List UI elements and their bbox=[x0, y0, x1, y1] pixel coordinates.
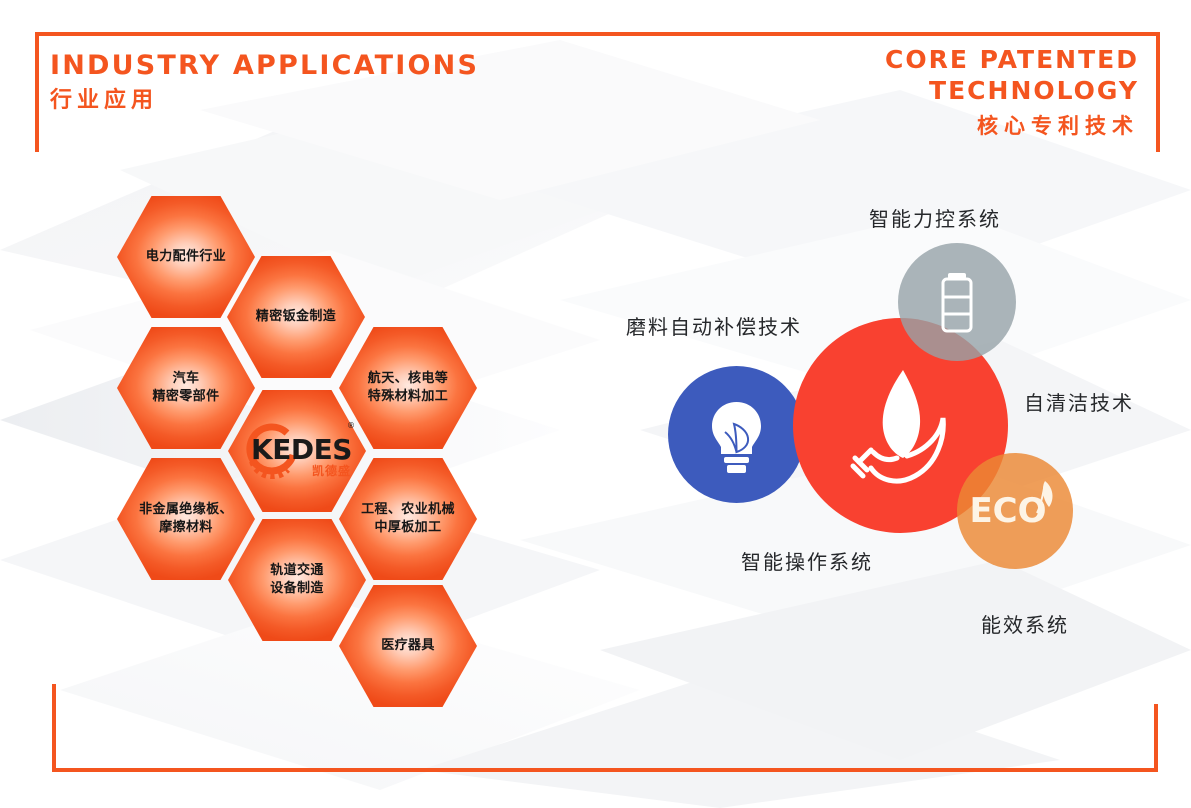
hexagon-label-line: 中厚板加工 bbox=[374, 519, 441, 537]
hexagon-label-line: 摩擦材料 bbox=[159, 519, 213, 537]
circle-smart-operating-system[interactable] bbox=[668, 366, 805, 503]
hexagon-label-line: 精密零部件 bbox=[152, 388, 219, 406]
label-abrasive-auto-compensation: 磨料自动补偿技术 bbox=[626, 311, 802, 340]
frame-left-bottom-line bbox=[52, 684, 56, 772]
header-left-title-en: INDUSTRY APPLICATIONS bbox=[50, 50, 479, 81]
hexagon-label-line: 航天、核电等 bbox=[368, 370, 448, 388]
circle-energy-efficiency[interactable]: ECO bbox=[957, 453, 1073, 569]
label-energy-efficiency-system: 能效系统 bbox=[981, 609, 1069, 638]
label-smart-force-control: 智能力控系统 bbox=[869, 203, 1001, 232]
hexagon-medical-devices[interactable]: 医疗器具 bbox=[339, 585, 477, 707]
frame-right-bottom-line bbox=[1154, 704, 1158, 772]
frame-bottom-line bbox=[52, 768, 1158, 772]
hexagon-label-line: 特殊材料加工 bbox=[368, 388, 448, 406]
hexagon-label-line: 设备制造 bbox=[270, 580, 324, 598]
hexagon-label-line: 医疗器具 bbox=[381, 637, 435, 655]
header-industry-applications: INDUSTRY APPLICATIONS 行业应用 bbox=[50, 50, 479, 116]
label-smart-operating-system: 智能操作系统 bbox=[741, 546, 873, 575]
hexagon-label-line: 汽车 bbox=[173, 370, 200, 388]
eco-leaf-icon bbox=[957, 453, 1073, 569]
hexagon-label-line: 非金属绝缘板、 bbox=[139, 501, 233, 519]
header-right-title-en-line1: CORE PATENTED bbox=[885, 44, 1139, 75]
hexagon-label: 医疗器具 bbox=[339, 585, 477, 707]
header-right-title-en-line2: TECHNOLOGY bbox=[885, 75, 1139, 106]
registered-trademark-icon: ® bbox=[347, 421, 355, 430]
header-core-patented-technology: CORE PATENTED TECHNOLOGY 核心专利技术 bbox=[885, 44, 1139, 141]
hexagon-label-line: 电力配件行业 bbox=[146, 248, 226, 266]
frame-left-line bbox=[35, 32, 39, 152]
lightbulb-icon bbox=[668, 366, 805, 503]
label-self-cleaning-technology: 自清洁技术 bbox=[1024, 387, 1134, 416]
header-left-title-cn: 行业应用 bbox=[50, 86, 479, 116]
infographic-page: INDUSTRY APPLICATIONS 行业应用 CORE PATENTED… bbox=[0, 0, 1191, 808]
header-right-title-cn: 核心专利技术 bbox=[885, 111, 1139, 141]
brand-name-cn: 凯德盛 bbox=[312, 462, 351, 479]
circle-smart-force-control[interactable] bbox=[898, 243, 1016, 361]
battery-icon bbox=[898, 243, 1016, 361]
hexagon-label-line: 轨道交通 bbox=[270, 562, 324, 580]
hexagon-label-line: 工程、农业机械 bbox=[361, 501, 455, 519]
hexagon-label-line: 精密钣金制造 bbox=[256, 308, 336, 326]
frame-top-line bbox=[35, 32, 1160, 36]
frame-right-top-line bbox=[1156, 32, 1160, 152]
